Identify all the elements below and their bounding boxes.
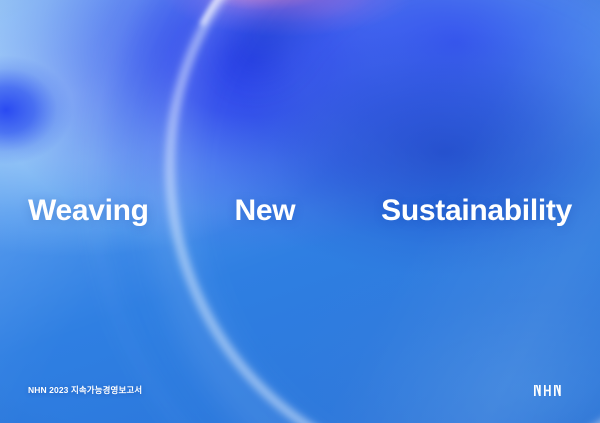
- headline-word-sustainability: Sustainability: [381, 196, 572, 226]
- report-cover: Weaving New Sustainability NHN 2023 지속가능…: [0, 0, 600, 423]
- nhn-logo: [534, 385, 572, 396]
- footer: NHN 2023 지속가능경영보고서: [0, 382, 600, 398]
- headline-word-new: New: [235, 196, 296, 226]
- headline: Weaving New Sustainability: [0, 190, 600, 232]
- footer-report-caption: NHN 2023 지속가능경영보고서: [28, 384, 142, 396]
- headline-word-weaving: Weaving: [28, 196, 149, 226]
